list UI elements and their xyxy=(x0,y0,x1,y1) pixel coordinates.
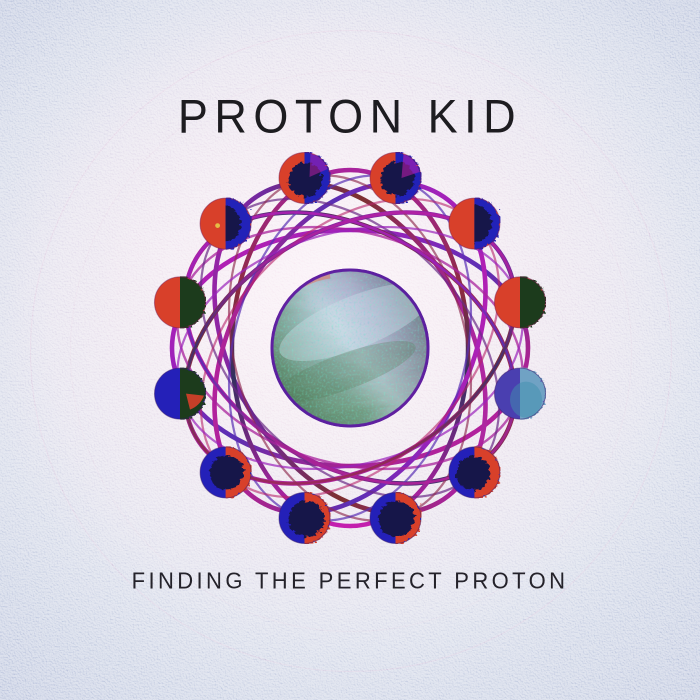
artist-title: PROTON KID xyxy=(0,92,700,140)
electron-node xyxy=(154,368,206,420)
album-cover: PROTON KID FINDING THE PERFECT PROTON xyxy=(0,0,700,700)
proton-nucleus xyxy=(254,252,446,444)
nucleus-surface xyxy=(254,252,446,444)
electron-node xyxy=(494,276,546,328)
electron-node xyxy=(279,152,331,204)
electron-node xyxy=(154,276,206,328)
electron-node xyxy=(448,446,500,498)
electron-node xyxy=(370,492,422,544)
electron-node xyxy=(279,492,331,544)
electron-node xyxy=(200,198,252,250)
electron-node xyxy=(448,198,500,250)
album-subtitle: FINDING THE PERFECT PROTON xyxy=(0,570,700,593)
electron-node xyxy=(200,446,252,498)
electron-node xyxy=(370,152,422,204)
electron-node xyxy=(494,368,546,420)
